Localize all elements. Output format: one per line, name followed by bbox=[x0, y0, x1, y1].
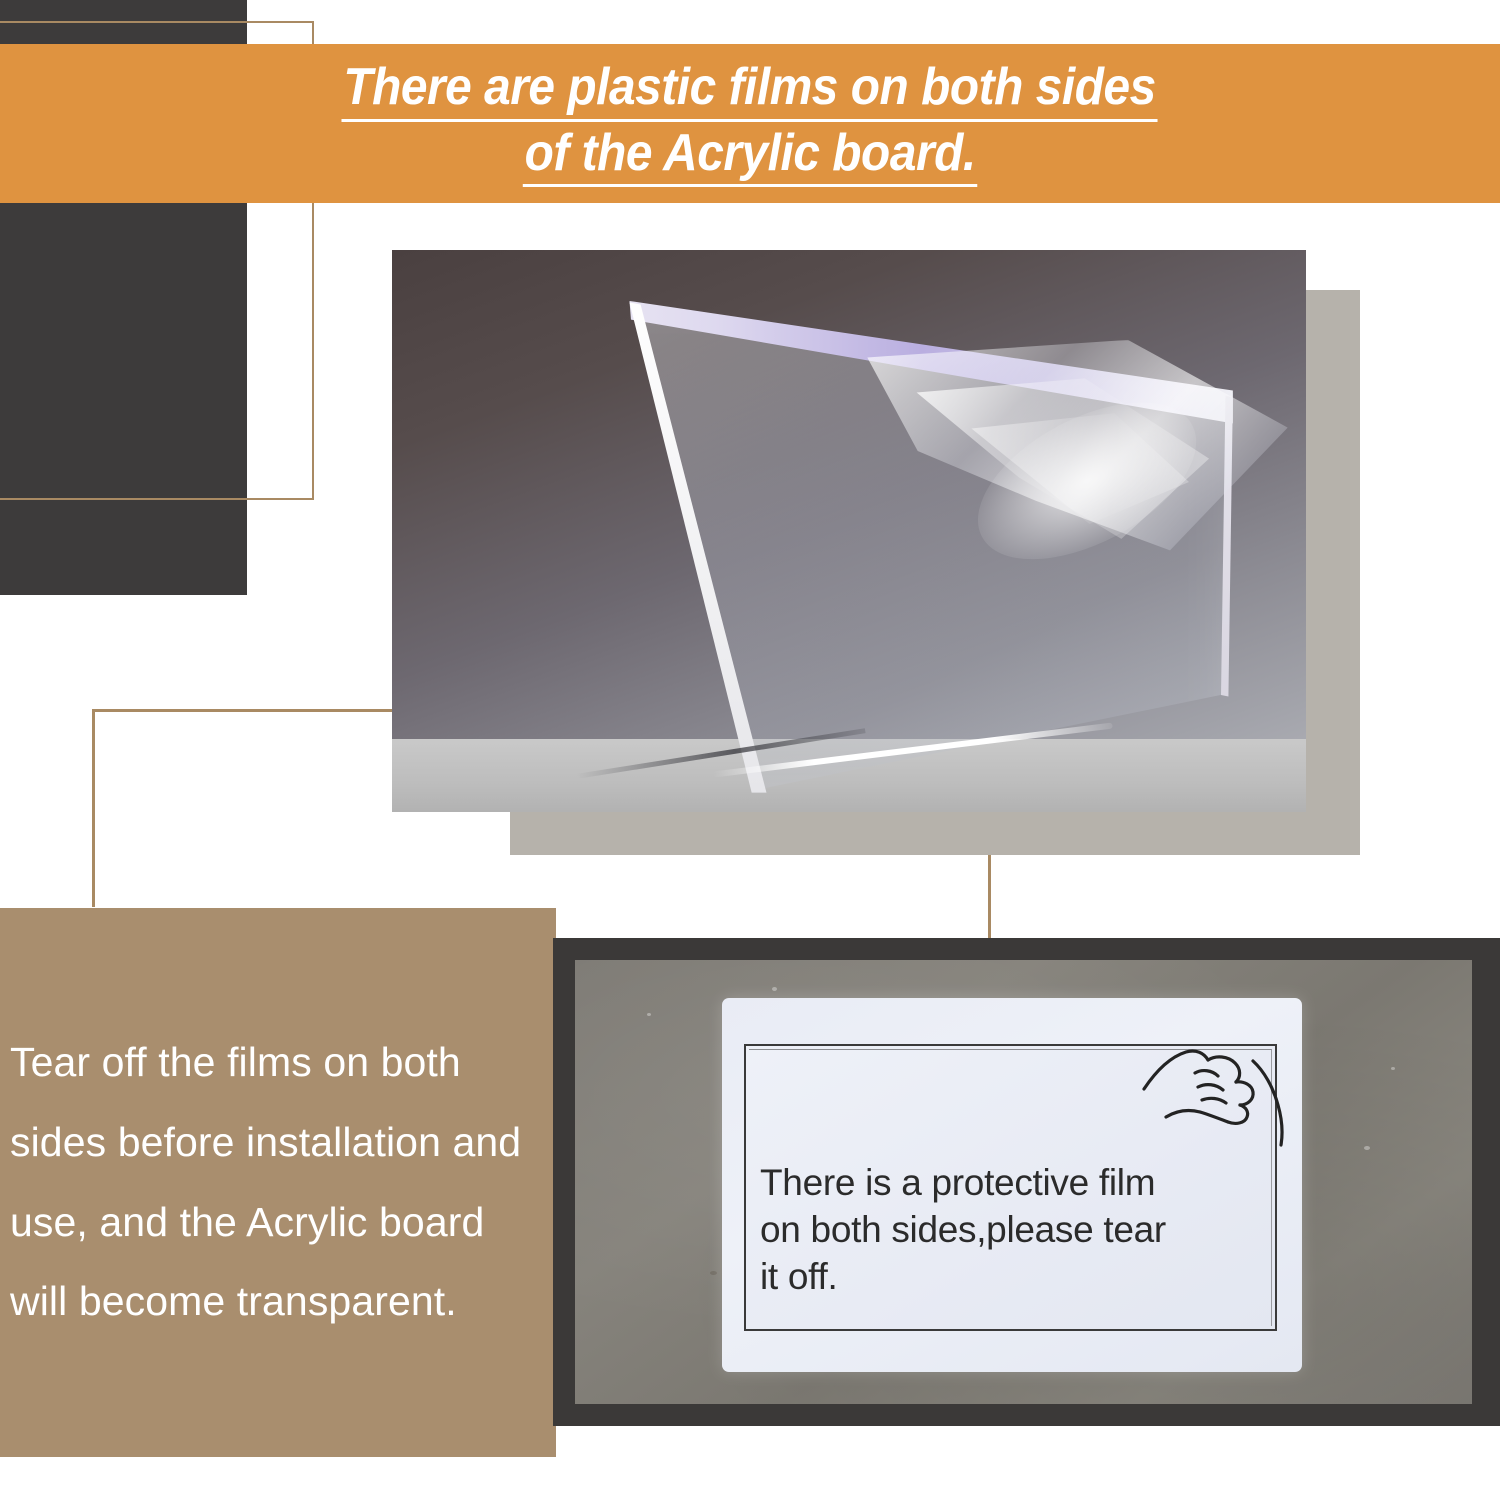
connector-line-vertical-left bbox=[92, 709, 95, 907]
warning-label-line-3: it off. bbox=[760, 1254, 1280, 1301]
warning-label-line-2: on both sides,please tear bbox=[760, 1207, 1280, 1254]
caption-box-text-wrap: Tear off the films on both sides before … bbox=[6, 908, 551, 1457]
warning-label-line-1: There is a protective film bbox=[760, 1160, 1280, 1207]
surface-speck bbox=[647, 1013, 651, 1016]
hand-pulling-film-icon bbox=[1140, 1045, 1290, 1155]
surface-speck bbox=[772, 987, 777, 991]
connector-line-horizontal bbox=[92, 709, 396, 712]
warning-label-text: There is a protective film on both sides… bbox=[760, 1160, 1280, 1301]
surface-speck bbox=[1364, 1146, 1370, 1150]
caption-text: Tear off the films on both sides before … bbox=[10, 1023, 547, 1343]
surface-speck bbox=[710, 1271, 717, 1275]
surface-speck bbox=[1391, 1067, 1395, 1070]
header-banner bbox=[0, 44, 1500, 203]
hero-product-photo bbox=[392, 250, 1306, 812]
infographic-page: There are plastic films on both sides of… bbox=[0, 0, 1500, 1500]
